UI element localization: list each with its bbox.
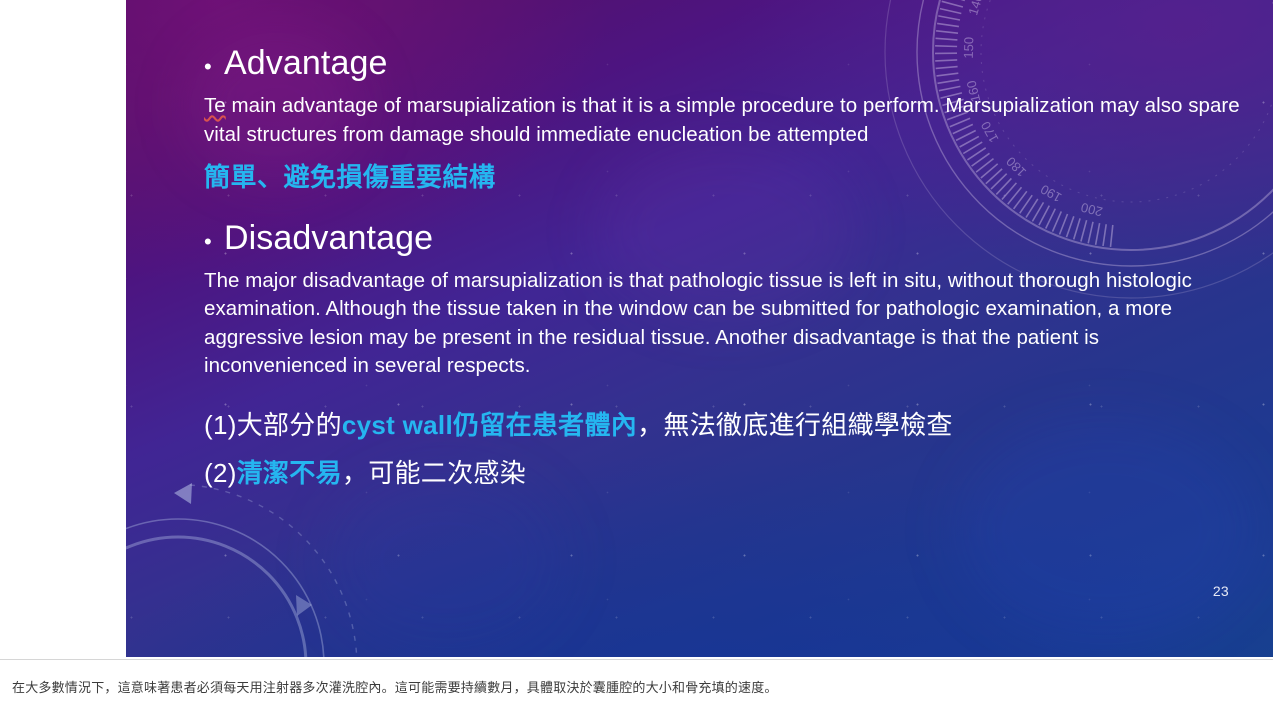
- page-number: 23: [1213, 583, 1229, 599]
- spacer: [204, 201, 1244, 219]
- disadvantage-point-1: (1)大部分的cyst wall仍留在患者體內，無法徹底進行組織學檢查: [204, 406, 1244, 445]
- compass-degree-label: 140: [965, 0, 986, 17]
- caption-bar: 在大多數情況下，這意味著患者必須每天用注射器多次灌洗腔內。這可能需要持續數月，具…: [0, 659, 1273, 716]
- nebula-blotch: [326, 470, 566, 650]
- heading-advantage-label: Advantage: [224, 44, 387, 82]
- point-post-text: ，無法徹底進行組織學檢查: [637, 410, 953, 440]
- bullet-glyph: •: [204, 56, 224, 78]
- presentation-slide: 200190180170160150140130120110 • Advanta…: [126, 0, 1273, 657]
- paragraph-advantage-rest: main advantage of marsupialization is th…: [204, 94, 1240, 145]
- spacer: [204, 387, 1244, 397]
- misspelled-word: Te: [204, 94, 226, 117]
- point-accent-text: cyst wall仍留在患者體內: [342, 410, 637, 440]
- advantage-chinese-summary: 簡單、避免損傷重要結構: [204, 159, 1244, 197]
- caption-text: 在大多數情況下，這意味著患者必須每天用注射器多次灌洗腔內。這可能需要持續數月，具…: [0, 678, 790, 698]
- point-accent-text: 清潔不易: [237, 458, 342, 488]
- point-pre-text: 大部分的: [237, 410, 342, 440]
- point-marker: (1): [204, 410, 237, 440]
- slide-viewer: 200190180170160150140130120110 • Advanta…: [0, 0, 1273, 715]
- heading-advantage: • Advantage: [204, 44, 1244, 82]
- point-post-text: ，可能二次感染: [342, 458, 526, 488]
- paragraph-advantage: Te main advantage of marsupialization is…: [204, 92, 1244, 149]
- disadvantage-point-2: (2)清潔不易，可能二次感染: [204, 454, 1244, 493]
- heading-disadvantage: • Disadvantage: [204, 219, 1244, 257]
- slide-content: • Advantage Te main advantage of marsupi…: [204, 44, 1244, 495]
- paragraph-disadvantage: The major disadvantage of marsupializati…: [204, 267, 1244, 381]
- point-marker: (2): [204, 458, 237, 488]
- heading-disadvantage-label: Disadvantage: [224, 219, 433, 257]
- bullet-glyph: •: [204, 231, 224, 253]
